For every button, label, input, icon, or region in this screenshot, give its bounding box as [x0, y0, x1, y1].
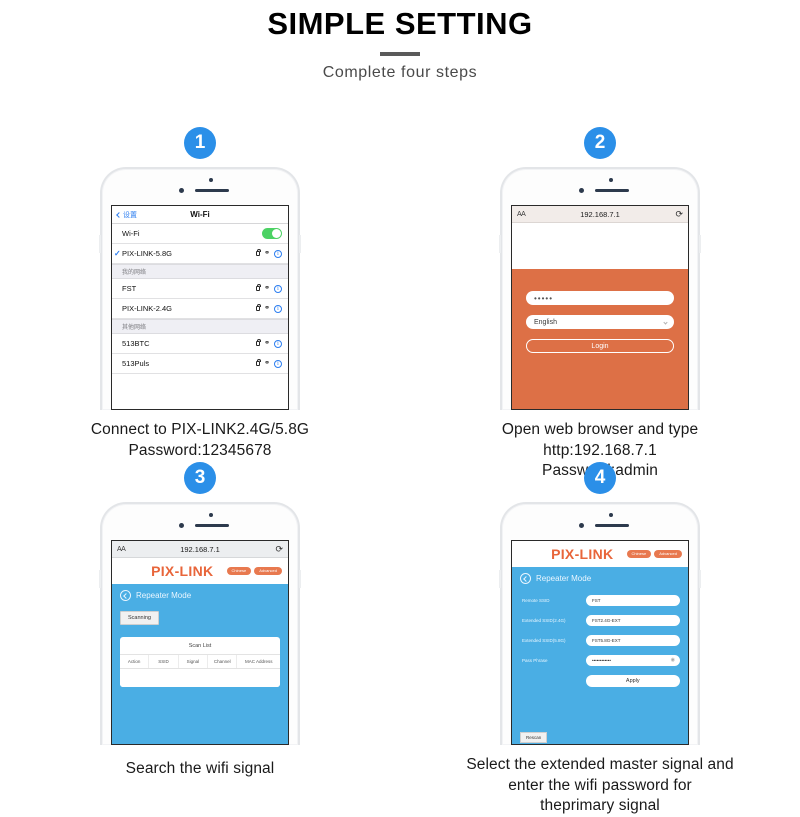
remote-ssid-input[interactable]: FST — [586, 595, 680, 606]
column-header-channel: Channel — [208, 655, 237, 668]
network-ssid: FST — [122, 284, 256, 293]
router-page-body: Repeater Mode Scanning Scan List Action … — [112, 584, 288, 745]
phone-screen-repeater-form: PIX-LINK Chinese Advanced Repeater Mode — [511, 540, 689, 745]
network-ssid: PIX-LINK-2.4G — [122, 304, 256, 313]
router-page-body: Repeater Mode Remote SSID FST Extended S… — [512, 567, 688, 745]
phone-mockup-3: AA 192.168.7.1 ⟳ PIX-LINK Chinese Advanc… — [0, 502, 400, 745]
phone-notch — [111, 504, 289, 540]
pass-phrase-input[interactable]: •••••••••••• ◉ — [586, 655, 680, 666]
list-item[interactable]: 513BTC ⚭ i — [112, 334, 288, 354]
phone-notch — [511, 504, 689, 540]
field-value: FST — [592, 598, 601, 603]
wifi-signal-icon: ⚭ — [264, 250, 270, 257]
step-card-4: 4 PIX-LINK Chinese Advanced — [400, 462, 800, 817]
field-label: Extended SSID(5.8G) — [520, 638, 586, 643]
front-camera-icon — [579, 523, 584, 528]
table-empty-body — [120, 669, 280, 687]
field-value: FST2.4G-EXT — [592, 618, 621, 623]
form-row-extended-ssid-24g: Extended SSID(2.4G) FST2.4G-EXT — [520, 615, 680, 626]
caption-line: Connect to PIX-LINK2.4G/5.8G — [18, 420, 382, 441]
front-camera-icon — [179, 523, 184, 528]
caption-line: enter the wifi password for — [418, 776, 782, 797]
brand-logo: PIX-LINK — [518, 546, 627, 562]
brand-logo: PIX-LINK — [118, 563, 227, 579]
form-row-pass-phrase: Pass Phrase •••••••••••• ◉ — [520, 655, 680, 666]
network-status-icons: ⚭ i — [256, 360, 282, 368]
breadcrumb: Repeater Mode — [520, 567, 680, 589]
extended-ssid-24g-input[interactable]: FST2.4G-EXT — [586, 615, 680, 626]
login-form: ••••• English Login — [512, 269, 688, 410]
repeater-settings-form: Remote SSID FST Extended SSID(2.4G) FST2… — [520, 589, 680, 687]
back-arrow-icon[interactable] — [120, 590, 131, 601]
section-header-other-networks: 其他网络 — [112, 319, 288, 334]
phone-mockup-4: PIX-LINK Chinese Advanced Repeater Mode — [400, 502, 800, 745]
eye-icon[interactable]: ◉ — [671, 658, 675, 663]
field-value: •••••••••••• — [592, 658, 611, 663]
url-text[interactable]: 192.168.7.1 — [512, 210, 688, 219]
caption-line: Select the extended master signal and — [418, 755, 782, 776]
wifi-signal-icon: ⚭ — [264, 340, 270, 347]
front-camera-icon — [179, 188, 184, 193]
info-icon[interactable]: i — [274, 340, 282, 348]
form-row-extended-ssid-58g: Extended SSID(5.8G) FST5.8G-EXT — [520, 635, 680, 646]
lock-icon — [256, 286, 260, 291]
network-ssid: PIX-LINK-5.8G — [122, 249, 256, 258]
proximity-sensor-icon — [609, 178, 613, 182]
step-badge-4: 4 — [584, 462, 616, 494]
wifi-toggle-label: Wi-Fi — [122, 229, 262, 238]
page-title: SIMPLE SETTING — [0, 6, 800, 42]
wifi-network-connected[interactable]: ✓ PIX-LINK-5.8G ⚭ i — [112, 244, 288, 264]
proximity-sensor-icon — [209, 178, 213, 182]
phone-screen-login: AA 192.168.7.1 ⟳ ••••• English Login — [511, 205, 689, 410]
lock-icon — [256, 251, 260, 256]
wifi-toggle-row[interactable]: Wi-Fi — [112, 224, 288, 244]
step-badge-2: 2 — [584, 127, 616, 159]
column-header-mac-address: MAC Address — [237, 655, 280, 668]
step-card-3: 3 AA 192.168.7.1 ⟳ PIX-LINK — [0, 462, 400, 780]
table-header-row: Action SSID Signal Channel MAC Address — [120, 655, 280, 669]
form-row-remote-ssid: Remote SSID FST — [520, 595, 680, 606]
caption-line: Open web browser and type — [418, 420, 782, 441]
phone-screen-scan-list: AA 192.168.7.1 ⟳ PIX-LINK Chinese Advanc… — [111, 540, 289, 745]
login-button[interactable]: Login — [526, 339, 674, 353]
section-header-my-networks: 我的网络 — [112, 264, 288, 279]
step-caption-4: Select the extended master signal and en… — [400, 755, 800, 817]
title-divider — [380, 52, 420, 56]
wifi-signal-icon: ⚭ — [264, 360, 270, 367]
column-header-signal: Signal — [179, 655, 208, 668]
browser-address-bar[interactable]: AA 192.168.7.1 ⟳ — [512, 206, 688, 223]
network-status-icons: ⚭ i — [256, 340, 282, 348]
lock-icon — [256, 306, 260, 311]
info-icon[interactable]: i — [274, 360, 282, 368]
page-title: Repeater Mode — [536, 574, 591, 583]
ios-nav-bar: 设置 Wi-Fi — [112, 206, 288, 224]
wifi-toggle-switch[interactable] — [262, 228, 282, 239]
network-status-icons: ⚭ i — [256, 285, 282, 293]
login-page-top-blank — [512, 223, 688, 269]
field-label: Extended SSID(2.4G) — [520, 618, 586, 623]
password-value: ••••• — [534, 294, 553, 303]
page-title: Repeater Mode — [136, 591, 191, 600]
step-card-1: 1 设置 Wi-Fi Wi- — [0, 127, 400, 461]
network-ssid: 513Puls — [122, 359, 256, 368]
caption-line: http:192.168.7.1 — [418, 441, 782, 462]
caption-line: theprimary signal — [418, 796, 782, 817]
field-label: Pass Phrase — [520, 658, 586, 663]
phone-mockup-2: AA 192.168.7.1 ⟳ ••••• English Login — [400, 167, 800, 410]
phone-mockup-1: 设置 Wi-Fi Wi-Fi ✓ PIX-LINK-5.8G ⚭ — [0, 167, 400, 410]
breadcrumb: Repeater Mode — [120, 584, 280, 606]
info-icon[interactable]: i — [274, 285, 282, 293]
password-field[interactable]: ••••• — [526, 291, 674, 305]
earpiece-speaker — [195, 524, 229, 527]
phone-notch — [511, 169, 689, 205]
column-header-action: Action — [120, 655, 149, 668]
back-arrow-icon[interactable] — [520, 573, 531, 584]
phone-screen-wifi-settings: 设置 Wi-Fi Wi-Fi ✓ PIX-LINK-5.8G ⚭ — [111, 205, 289, 410]
column-header-ssid: SSID — [149, 655, 178, 668]
lock-icon — [256, 361, 260, 366]
router-brand-header: PIX-LINK Chinese Advanced — [512, 541, 688, 567]
front-camera-icon — [579, 188, 584, 193]
toggle-knob — [272, 229, 281, 238]
step-caption-1: Connect to PIX-LINK2.4G/5.8G Password:12… — [0, 420, 400, 461]
network-ssid: 513BTC — [122, 339, 256, 348]
info-icon[interactable]: i — [274, 305, 282, 313]
caption-line: Password:12345678 — [18, 441, 382, 462]
language-switch-button[interactable]: Chinese — [627, 550, 652, 558]
earpiece-speaker — [195, 189, 229, 192]
network-status-icons: ⚭ i — [256, 250, 282, 258]
proximity-sensor-icon — [609, 513, 613, 517]
step-card-2: 2 AA 192.168.7.1 ⟳ •• — [400, 127, 800, 482]
scanning-button[interactable]: Scanning — [120, 611, 159, 625]
earpiece-speaker — [595, 189, 629, 192]
url-text[interactable]: 192.168.7.1 — [112, 545, 288, 554]
step-caption-3: Search the wifi signal — [0, 759, 400, 780]
list-item[interactable]: PIX-LINK-2.4G ⚭ i — [112, 299, 288, 319]
chevron-down-icon — [663, 320, 667, 324]
nav-title: Wi-Fi — [112, 210, 288, 219]
lock-icon — [256, 341, 260, 346]
step-badge-1: 1 — [184, 127, 216, 159]
browser-address-bar[interactable]: AA 192.168.7.1 ⟳ — [112, 541, 288, 558]
step-badge-3: 3 — [184, 462, 216, 494]
list-item[interactable]: FST ⚭ i — [112, 279, 288, 299]
page-subtitle: Complete four steps — [0, 64, 800, 82]
page-header: SIMPLE SETTING Complete four steps — [0, 6, 800, 82]
advanced-settings-button[interactable]: Advanced — [654, 550, 682, 558]
scan-list-title: Scan List — [120, 637, 280, 655]
phone-notch — [111, 169, 289, 205]
router-brand-header: PIX-LINK Chinese Advanced — [112, 558, 288, 584]
info-icon[interactable]: i — [274, 250, 282, 258]
apply-row: Apply — [520, 675, 680, 687]
network-status-icons: ⚭ i — [256, 305, 282, 313]
checkmark-icon: ✓ — [114, 249, 121, 258]
proximity-sensor-icon — [209, 513, 213, 517]
advanced-settings-button[interactable]: Advanced — [254, 567, 282, 575]
wifi-signal-icon: ⚭ — [264, 285, 270, 292]
header-buttons: Chinese Advanced — [627, 550, 682, 558]
field-value: FST5.8G-EXT — [592, 638, 621, 643]
list-item[interactable]: 513Puls ⚭ i — [112, 354, 288, 374]
language-value: English — [534, 319, 557, 326]
scan-list-card: Scan List Action SSID Signal Channel MAC… — [120, 637, 280, 687]
language-switch-button[interactable]: Chinese — [227, 567, 252, 575]
field-label: Remote SSID — [520, 598, 586, 603]
apply-button[interactable]: Apply — [586, 675, 680, 687]
header-buttons: Chinese Advanced — [227, 567, 282, 575]
caption-line: Search the wifi signal — [18, 759, 382, 780]
earpiece-speaker — [595, 524, 629, 527]
rescan-button[interactable]: Rescan — [520, 732, 547, 743]
wifi-signal-icon: ⚭ — [264, 305, 270, 312]
language-select[interactable]: English — [526, 315, 674, 329]
extended-ssid-58g-input[interactable]: FST5.8G-EXT — [586, 635, 680, 646]
